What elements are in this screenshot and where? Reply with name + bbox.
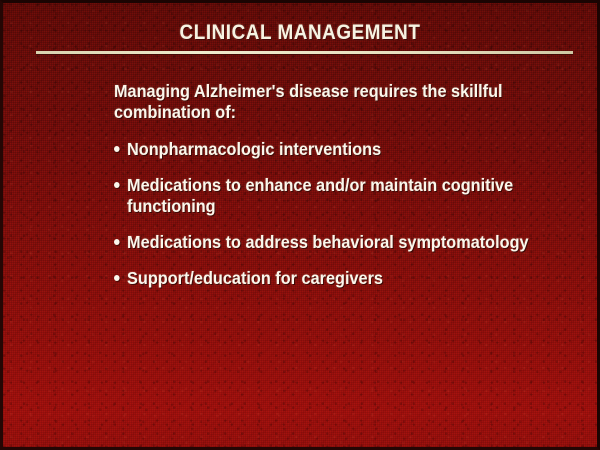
bullet-text-1: Nonpharmacologic interventions	[127, 139, 381, 159]
slide-content: CLINICAL MANAGEMENT Managing Alzheimer's…	[3, 3, 597, 447]
bullet-dot-icon	[114, 275, 120, 281]
bullet-item-4: Support/education for caregivers	[114, 268, 537, 289]
bullet-item-1: Nonpharmacologic interventions	[114, 139, 537, 160]
bullet-text-2: Medications to enhance and/or maintain c…	[127, 175, 513, 216]
bullet-item-3: Medications to address behavioral sympto…	[114, 232, 537, 253]
slide-body: Managing Alzheimer's disease requires th…	[114, 81, 569, 289]
intro-paragraph: Managing Alzheimer's disease requires th…	[114, 81, 516, 123]
bullet-list: Nonpharmacologic interventions Medicatio…	[114, 139, 569, 289]
slide-title: CLINICAL MANAGEMENT	[33, 21, 568, 45]
title-divider-rule	[36, 51, 573, 54]
bullet-dot-icon	[114, 182, 120, 188]
presentation-slide: CLINICAL MANAGEMENT Managing Alzheimer's…	[0, 0, 600, 450]
bullet-text-3: Medications to address behavioral sympto…	[127, 232, 529, 252]
bullet-dot-icon	[114, 239, 120, 245]
bullet-dot-icon	[114, 146, 120, 152]
bullet-text-4: Support/education for caregivers	[127, 268, 383, 288]
bullet-item-2: Medications to enhance and/or maintain c…	[114, 175, 537, 217]
